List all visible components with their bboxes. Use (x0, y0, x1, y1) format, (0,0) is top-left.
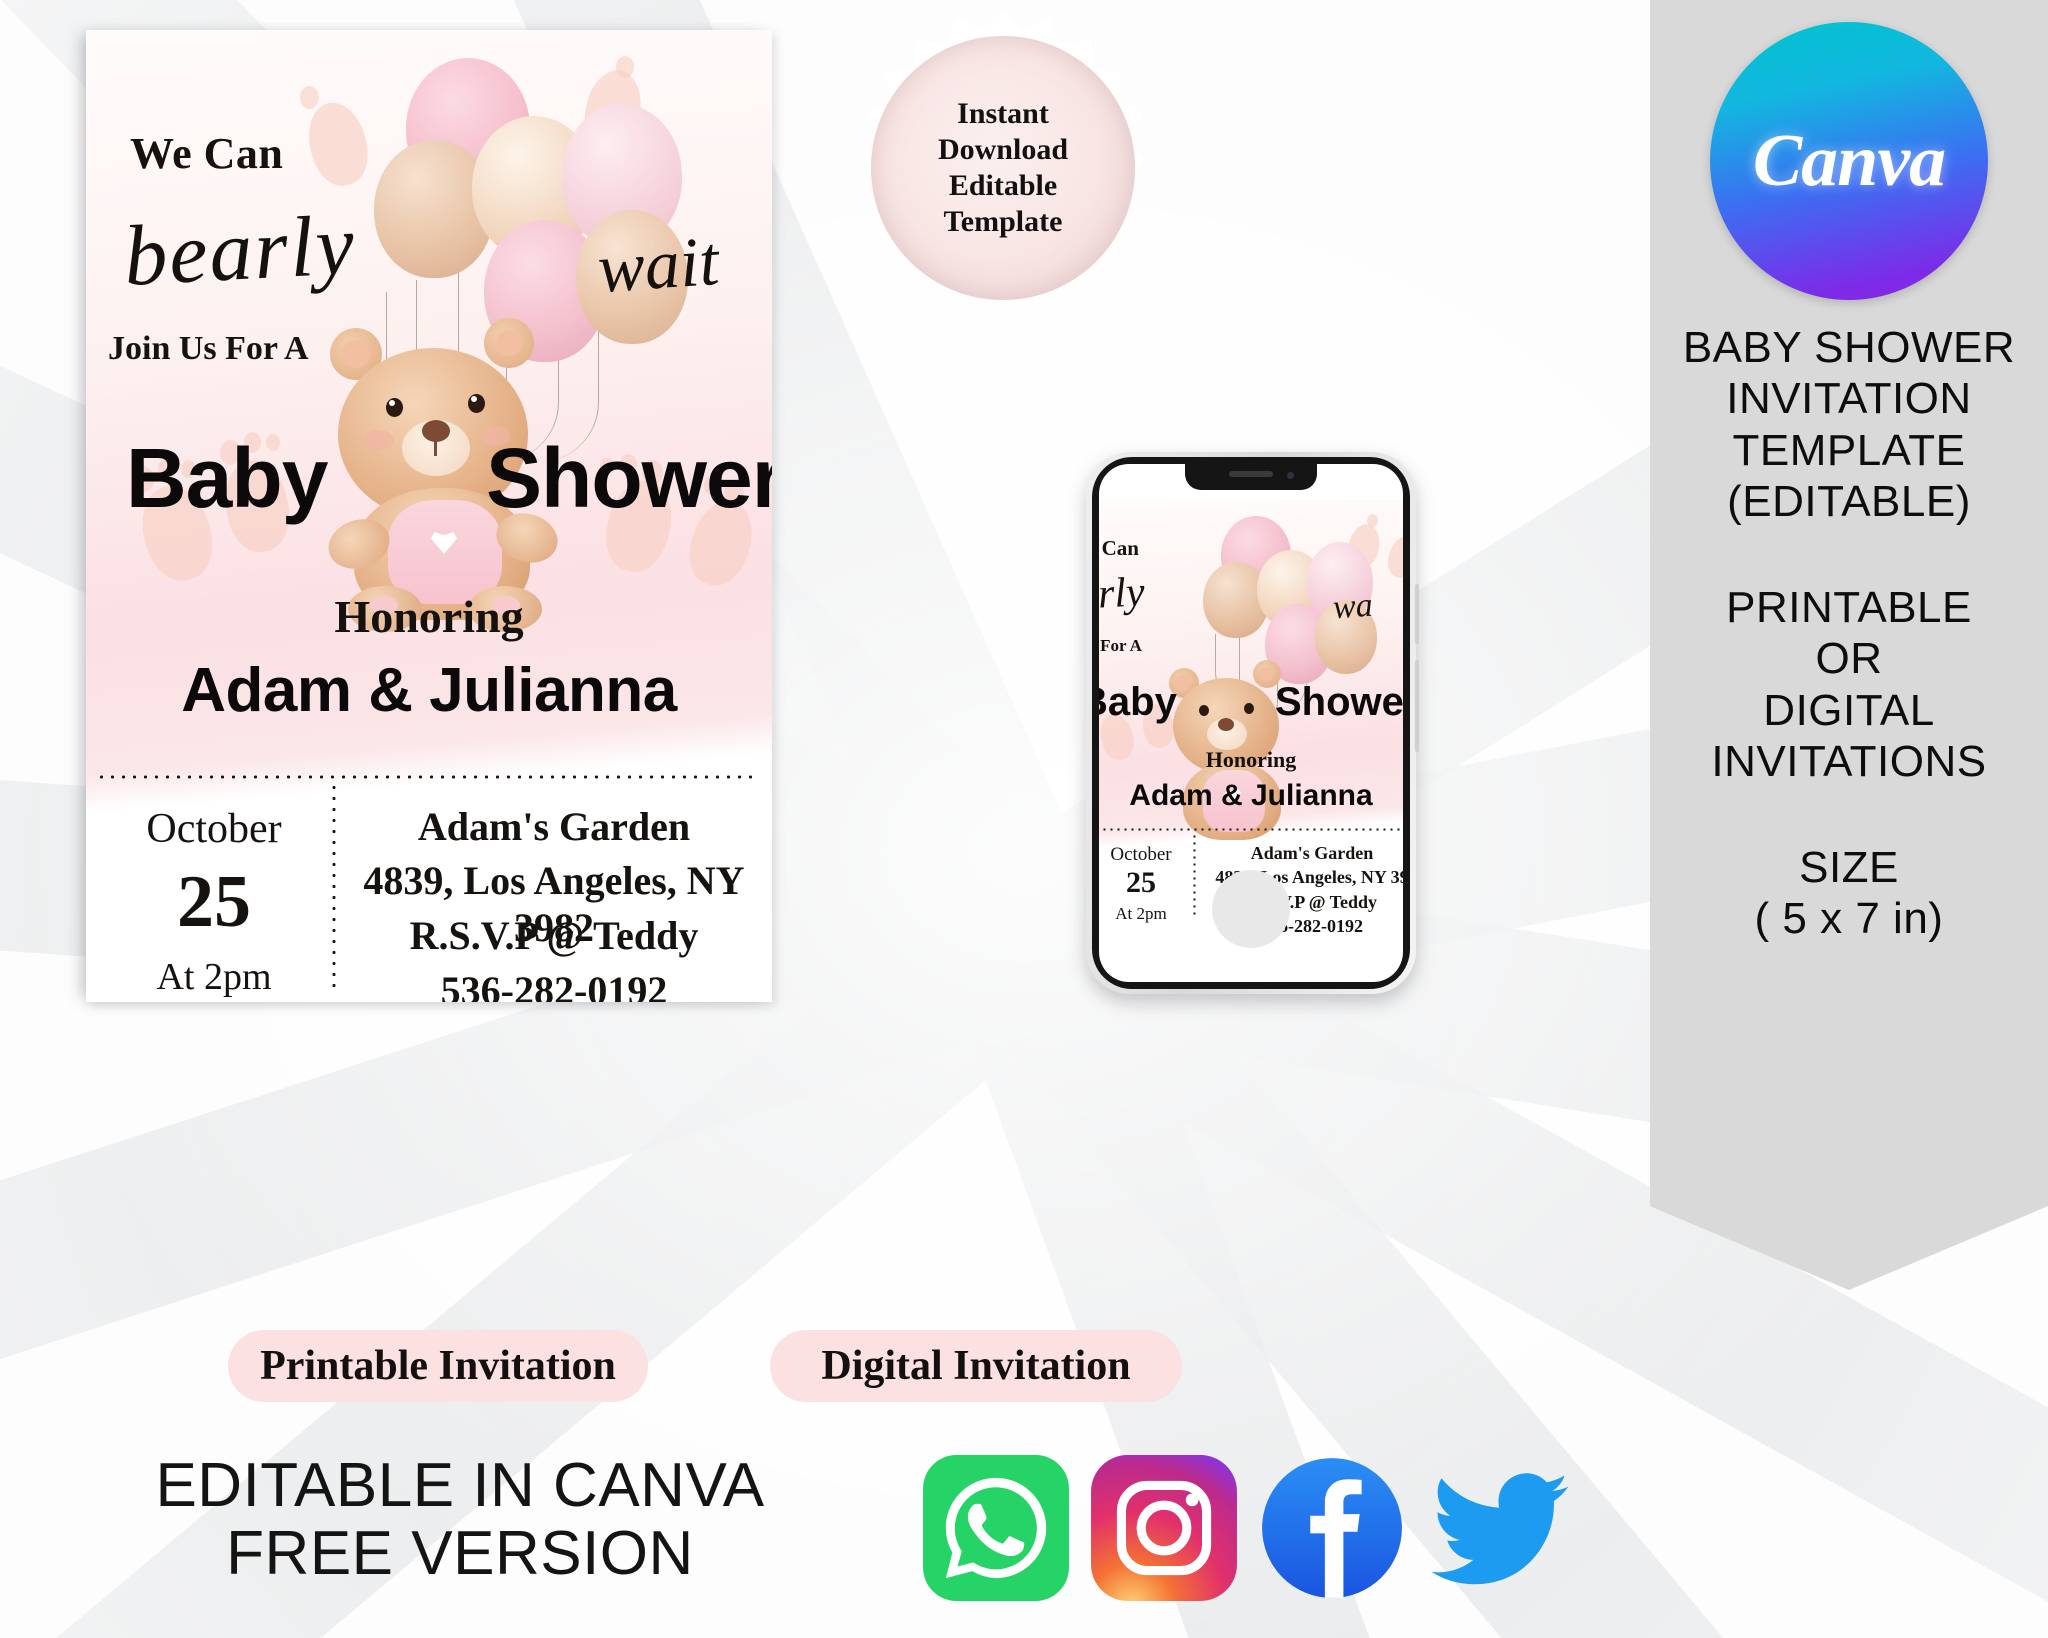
phone-date-month: October (1099, 844, 1191, 866)
card-date-month: October (100, 805, 328, 853)
phone-honoring-label: Honoring (1099, 747, 1403, 773)
card-line-wait: wait (595, 222, 721, 310)
phone-title-baby: Baby (1099, 680, 1177, 725)
badge-line-template: Template (944, 207, 1063, 237)
phone-date-time: At 2pm (1099, 904, 1191, 924)
panel-heading-text: BABY SHOWER INVITATION TEMPLATE (EDITABL… (1683, 322, 2015, 528)
phone-divider-horizontal (1101, 828, 1403, 831)
phone-line-join: Us For A (1099, 636, 1142, 656)
card-venue-phone: 536-282-0192 (344, 967, 764, 1002)
phone-front-camera-icon (1287, 472, 1294, 479)
phone-notch (1185, 464, 1317, 490)
card-line-we-can: We Can (130, 128, 283, 179)
phone-title-shower: Showe (1275, 680, 1403, 725)
card-date-day: 25 (100, 860, 328, 945)
digital-invitation-pill: Digital Invitation (770, 1330, 1182, 1402)
phone-honoree-names: Adam & Julianna (1099, 779, 1403, 813)
printable-invitation-pill: Printable Invitation (228, 1330, 648, 1402)
canva-free-version-note: EDITABLE IN CANVA FREE VERSION (110, 1452, 810, 1588)
phone-venue-name: Adam's Garden (1199, 843, 1403, 864)
instant-download-badge: Instant Download Editable Template (843, 8, 1163, 328)
card-title-shower: Shower (486, 430, 772, 527)
social-icons-row (920, 1452, 1576, 1604)
canva-logo: Canva (1710, 22, 1988, 300)
card-venue-name: Adam's Garden (344, 803, 764, 850)
phone-side-button-lower (1415, 660, 1419, 752)
badge-line-instant: Instant (957, 99, 1049, 129)
badge-line-download: Download (938, 135, 1068, 165)
card-honoree-names: Adam & Julianna (86, 655, 772, 726)
digital-invitation-phone-mockup[interactable]: e Can arly Us For A wa Baby Showe Honori… (1086, 452, 1416, 994)
whatsapp-icon[interactable] (920, 1452, 1072, 1604)
card-honoring-label: Honoring (86, 590, 772, 643)
card-divider-horizontal (96, 775, 760, 779)
phone-line-wait: wa (1332, 587, 1374, 628)
badge-inner-circle: Instant Download Editable Template (871, 36, 1135, 300)
phone-home-button[interactable] (1212, 870, 1290, 948)
badge-line-editable: Editable (949, 171, 1057, 201)
phone-side-button-upper (1415, 584, 1419, 644)
card-line-bearly: bearly (122, 194, 359, 306)
card-title-baby: Baby (126, 430, 327, 527)
phone-screen[interactable]: e Can arly Us For A wa Baby Showe Honori… (1099, 464, 1403, 982)
printable-invitation-card[interactable]: We Can bearly Join Us For A wait Baby Sh… (86, 30, 772, 1002)
phone-line-we-can: e Can (1099, 536, 1139, 561)
card-divider-vertical (332, 782, 336, 994)
twitter-icon[interactable] (1424, 1452, 1576, 1604)
card-date-time: At 2pm (100, 955, 328, 999)
phone-earpiece-speaker (1229, 471, 1273, 477)
panel-size-text: SIZE ( 5 x 7 in) (1755, 842, 1944, 945)
phone-invitation-preview: e Can arly Us For A wa Baby Showe Honori… (1099, 500, 1403, 920)
phone-divider-vertical (1193, 833, 1196, 917)
facebook-icon[interactable] (1256, 1452, 1408, 1604)
phone-line-bearly: arly (1099, 568, 1146, 619)
card-venue-rsvp: R.S.V.P @ Teddy (344, 912, 764, 959)
instagram-icon[interactable] (1088, 1452, 1240, 1604)
phone-date-day: 25 (1099, 866, 1191, 900)
info-panel: Canva BABY SHOWER INVITATION TEMPLATE (E… (1650, 0, 2048, 1290)
panel-usage-text: PRINTABLE OR DIGITAL INVITATIONS (1711, 582, 1986, 788)
canva-wordmark: Canva (1753, 119, 1945, 204)
card-line-join: Join Us For A (108, 330, 309, 368)
